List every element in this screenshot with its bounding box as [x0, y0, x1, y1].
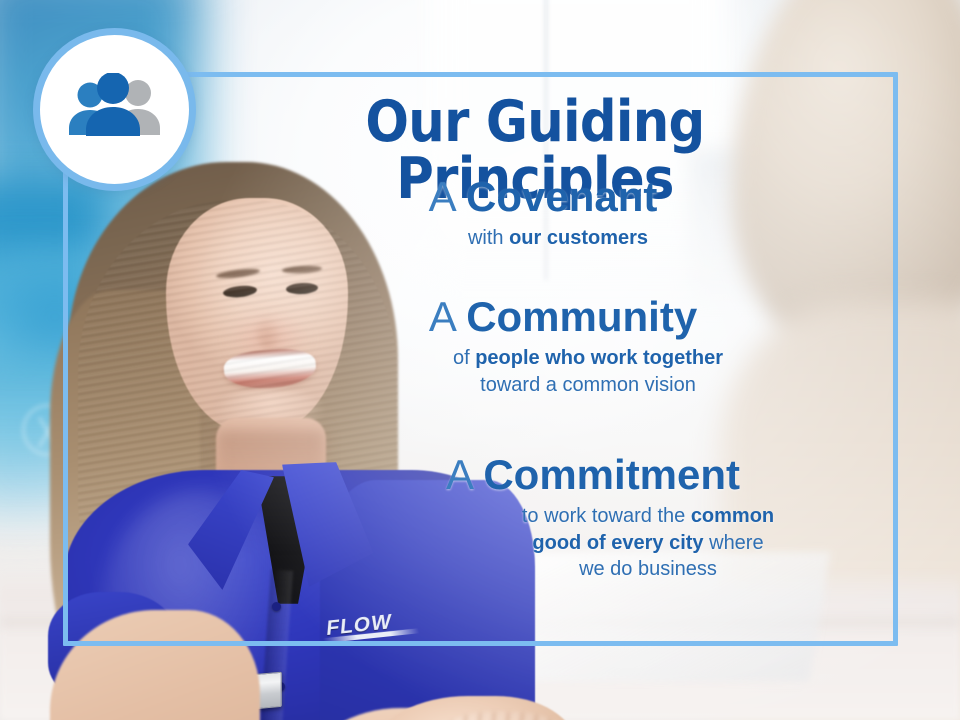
principle-community-article: A	[429, 293, 455, 340]
principle-community-heading: A Community	[273, 296, 853, 339]
principle-covenant-subtext: with our customers	[263, 225, 823, 252]
principle-commitment-keyword: Commitment	[483, 451, 740, 498]
principle-commitment: A Commitment to work toward the common g…	[293, 454, 893, 583]
commitment-sub-line1-plain: to work toward the	[522, 505, 691, 527]
principle-commitment-subtext: to work toward the common good of every …	[293, 503, 893, 583]
covenant-sub-plain: with	[468, 227, 509, 249]
principle-covenant-article: A	[429, 173, 455, 220]
commitment-sub-line1-bold: common	[691, 505, 774, 527]
community-sub-line1-plain: of	[453, 347, 475, 369]
commitment-sub-line3: we do business	[579, 558, 717, 580]
principle-commitment-heading: A Commitment	[293, 454, 893, 497]
text-content: Our Guiding Principles A Covenant with o…	[63, 72, 898, 646]
commitment-sub-line2-bold: good of every city	[532, 532, 703, 554]
principle-covenant-keyword: Covenant	[466, 173, 657, 220]
community-sub-line2: toward a common vision	[480, 374, 696, 396]
principle-community-subtext: of people who work together toward a com…	[273, 345, 853, 399]
commitment-sub-line2-plain: where	[704, 532, 764, 554]
principle-community: A Community of people who work together …	[273, 296, 853, 398]
principle-commitment-article: A	[446, 451, 472, 498]
guiding-principles-graphic: FLOW FLOW Automotive	[0, 0, 960, 720]
principle-covenant-heading: A Covenant	[263, 176, 823, 219]
principle-community-keyword: Community	[466, 293, 697, 340]
principle-covenant: A Covenant with our customers	[263, 176, 823, 252]
covenant-sub-bold: our customers	[509, 227, 648, 249]
community-sub-line1-bold: people who work together	[475, 347, 723, 369]
